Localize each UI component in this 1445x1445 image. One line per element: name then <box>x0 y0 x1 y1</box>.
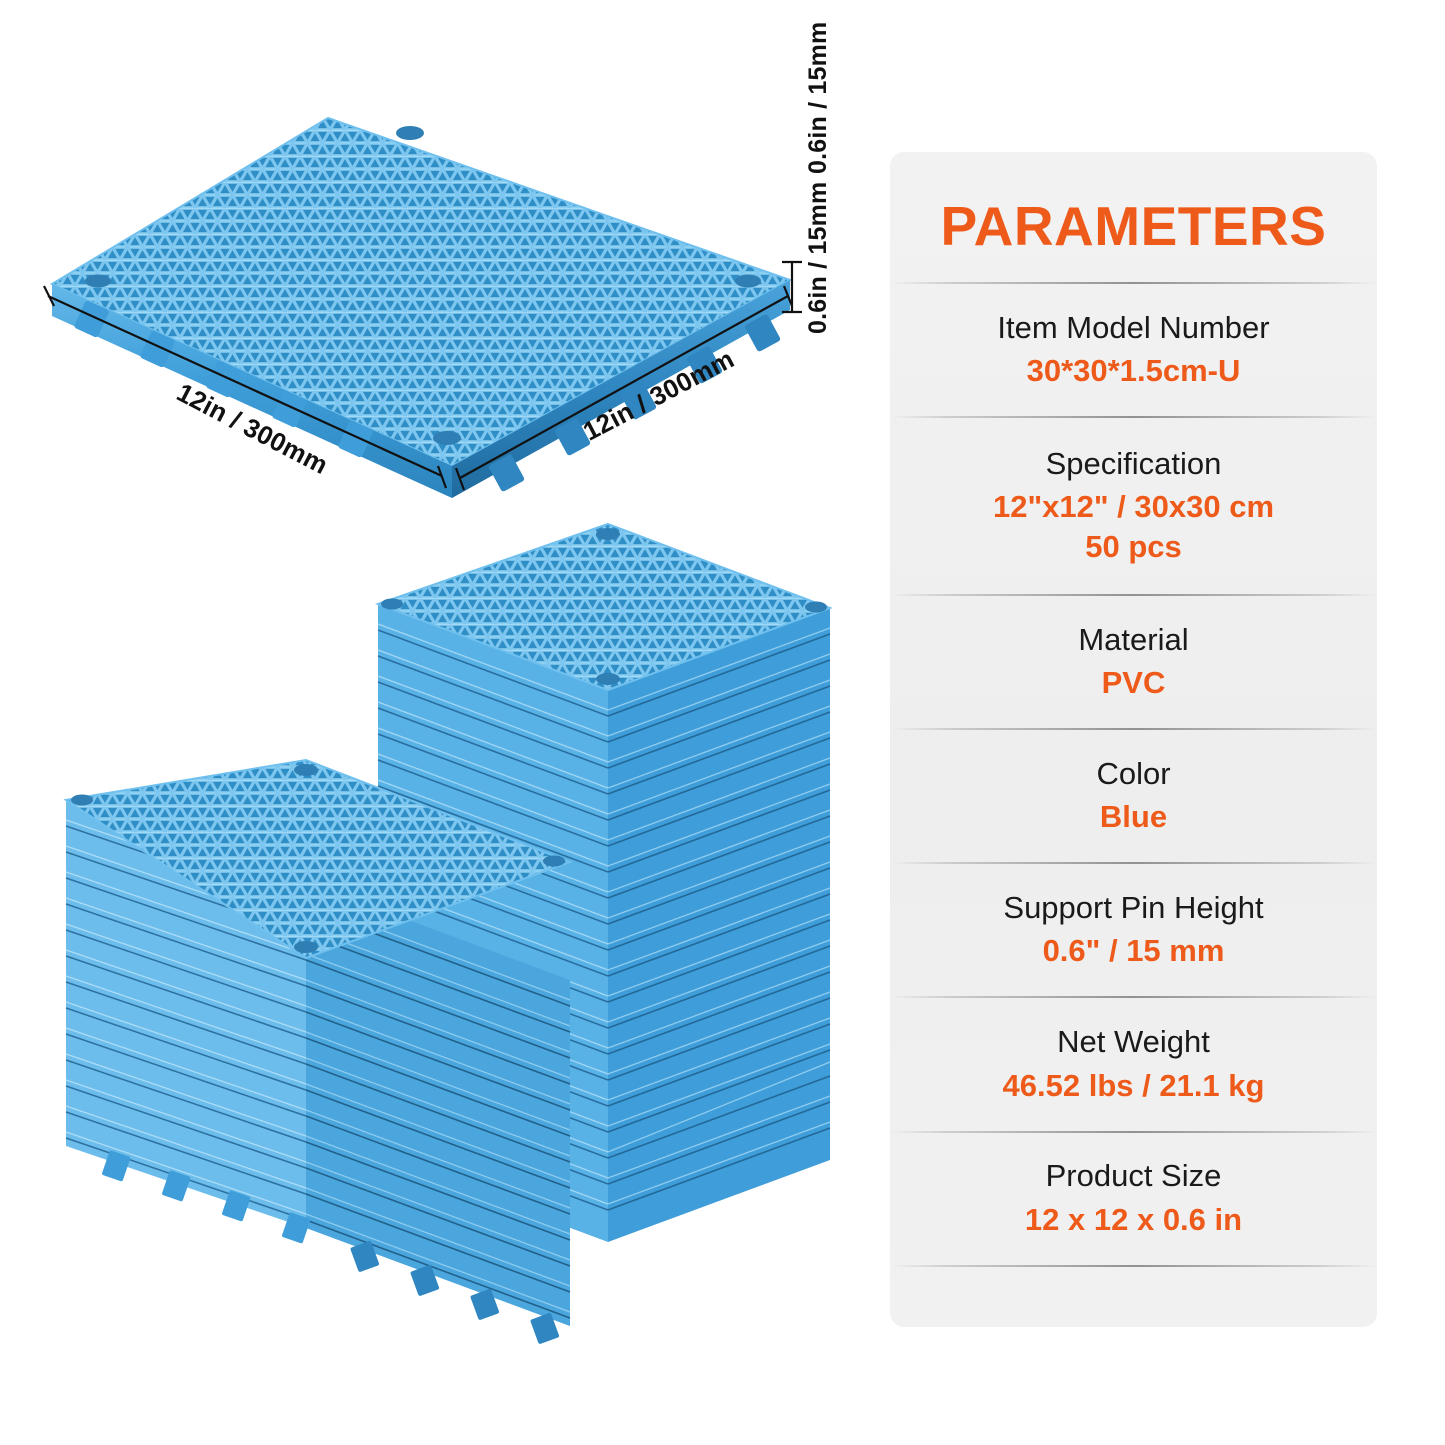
param-row-endcap <box>890 1267 1377 1327</box>
param-row-material: Material PVC <box>890 596 1377 728</box>
param-row-specification: Specification 12"x12" / 30x30 cm 50 pcs <box>890 418 1377 594</box>
param-value: 0.6" / 15 mm <box>1043 931 1225 971</box>
param-value: PVC <box>1102 663 1166 703</box>
param-value: 12 x 12 x 0.6 in <box>1025 1200 1242 1240</box>
param-row-item-model-number: Item Model Number 30*30*1.5cm-U <box>890 284 1377 416</box>
param-label: Specification <box>1046 445 1222 483</box>
param-label: Product Size <box>1046 1157 1222 1195</box>
parameters-panel: PARAMETERS Item Model Number 30*30*1.5cm… <box>890 152 1377 1327</box>
param-row-product-size: Product Size 12 x 12 x 0.6 in <box>890 1133 1377 1265</box>
product-illustration: 12in / 300mm 12in / 300mm 0.6in / 15mm 0… <box>0 0 880 1445</box>
dimension-label-thickness-overall: 0.6in / 15mm <box>804 22 833 174</box>
param-row-net-weight: Net Weight 46.52 lbs / 21.1 kg <box>890 998 1377 1130</box>
param-value: 30*30*1.5cm-U <box>1027 351 1241 391</box>
param-value: 46.52 lbs / 21.1 kg <box>1003 1066 1265 1106</box>
tile-stack-front <box>66 760 572 1344</box>
single-tile-top <box>52 118 790 498</box>
param-label: Net Weight <box>1057 1023 1210 1061</box>
tiles-illustration-svg <box>0 0 880 1445</box>
param-row-support-pin-height: Support Pin Height 0.6" / 15 mm <box>890 864 1377 996</box>
param-label: Material <box>1078 621 1188 659</box>
param-row-color: Color Blue <box>890 730 1377 862</box>
param-value-secondary: 50 pcs <box>1085 527 1182 567</box>
param-label: Support Pin Height <box>1003 889 1263 927</box>
param-label: Color <box>1096 755 1170 793</box>
param-value: Blue <box>1100 797 1167 837</box>
dimension-label-thickness-pin: 0.6in / 15mm <box>804 182 833 334</box>
param-value: 12"x12" / 30x30 cm <box>993 487 1274 527</box>
panel-title: PARAMETERS <box>890 152 1377 282</box>
param-label: Item Model Number <box>997 309 1269 347</box>
